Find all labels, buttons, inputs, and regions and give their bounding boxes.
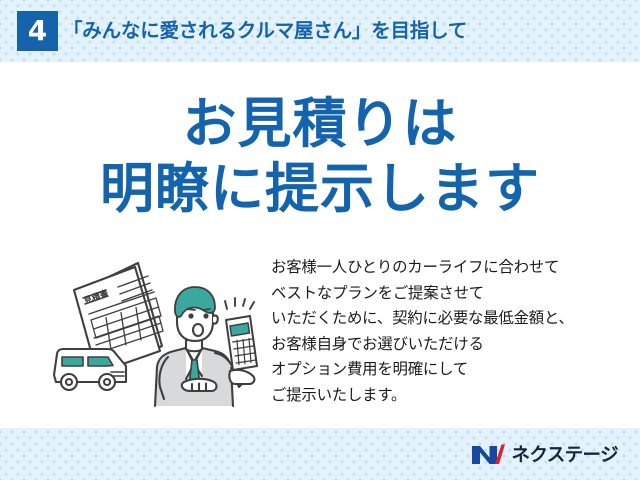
nextage-logo-mark-icon [471, 443, 505, 466]
headline-line-2: 明瞭に提示します [0, 156, 640, 222]
illustration-svg: 見積書 [34, 254, 266, 414]
header-title: 「みんなに愛されるクルマ屋さん」を目指して [63, 14, 467, 48]
content-card: お見積りは 明瞭に提示します [0, 62, 640, 428]
nextage-logo: ネクステージ [471, 441, 618, 467]
nextage-logo-text: ネクステージ [512, 441, 618, 467]
header-bar: 4 「みんなに愛されるクルマ屋さん」を目指して [0, 0, 640, 62]
body-line-5: オプション費用を明確にして [271, 357, 631, 383]
section-number-badge: 4 [17, 11, 58, 51]
body-line-6: ご提示いたします。 [271, 383, 631, 409]
body-line-1: お客様一人ひとりのカーライフに合わせて [271, 255, 631, 281]
headline-line-1: お見積りは [0, 92, 640, 156]
body-line-3: いただくために、契約に必要な最低金額と、 [271, 306, 631, 332]
illustration-salesperson-quote: 見積書 [34, 254, 266, 414]
headline: お見積りは 明瞭に提示します [0, 92, 640, 222]
body-paragraph: お客様一人ひとりのカーライフに合わせて ベストなプランをご提案させて いただくた… [271, 255, 631, 409]
advertisement-page: 4 「みんなに愛されるクルマ屋さん」を目指して お見積りは 明瞭に提示します [0, 0, 640, 480]
body-line-4: お客様自身でお選びいただける [271, 332, 631, 358]
footer-bar: ネクステージ [0, 428, 640, 480]
body-line-2: ベストなプランをご提案させて [271, 281, 631, 307]
